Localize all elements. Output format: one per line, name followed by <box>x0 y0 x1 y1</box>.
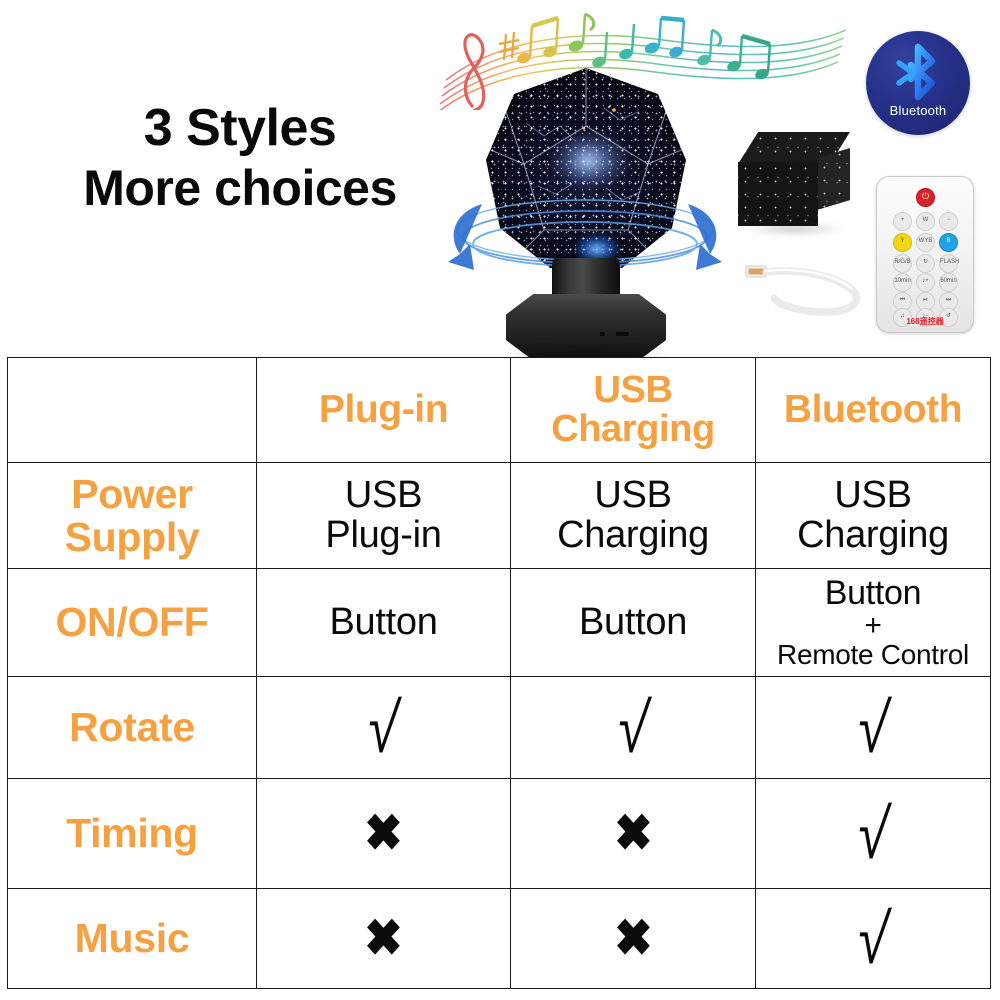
table-row: Music ✖ ✖ √ <box>8 889 991 989</box>
cell-timing-plug-in: ✖ <box>257 779 511 889</box>
table-header-row: Plug-in USB Charging Bluetooth <box>8 358 991 463</box>
headline-line-1: 3 Styles <box>40 98 440 159</box>
cell-line: Remote Control <box>758 641 988 670</box>
column-header-bluetooth: Bluetooth <box>756 358 991 463</box>
remote-button-w[interactable]: W <box>916 212 935 231</box>
cell-onoff-bluetooth: Button + Remote Control <box>756 569 991 677</box>
row-label-music: Music <box>8 889 257 989</box>
column-header-usb-charging-line-1: USB <box>513 371 753 410</box>
remote-button-plus[interactable]: + <box>893 212 912 231</box>
cell-power-bluetooth: USB Charging <box>756 463 991 569</box>
page-title: 3 Styles More choices <box>40 98 440 218</box>
row-label-power-supply-line-2: Supply <box>10 516 254 558</box>
remote-button-timer-10[interactable]: 10min <box>893 273 912 292</box>
remote-button-rotate[interactable]: ↻ <box>916 254 935 273</box>
table-row: Rotate √ √ √ <box>8 677 991 779</box>
cell-onoff-usb-charging: Button <box>511 569 756 677</box>
usb-cable <box>744 250 874 322</box>
cell-line: Charging <box>513 516 753 555</box>
cell-power-plug-in: USB Plug-in <box>257 463 511 569</box>
cell-rotate-usb-charging: √ <box>511 677 756 779</box>
row-label-on-off: ON/OFF <box>8 569 257 677</box>
cell-power-usb-charging: USB Charging <box>511 463 756 569</box>
column-header-usb-charging-line-2: Charging <box>513 410 753 449</box>
cell-onoff-plug-in: Button <box>257 569 511 677</box>
cross-icon: ✖ <box>614 808 653 859</box>
cross-icon: ✖ <box>364 913 403 964</box>
cell-line: USB <box>513 476 753 515</box>
headline-line-2: More choices <box>40 159 440 218</box>
bluetooth-badge: Bluetooth <box>866 31 970 135</box>
cell-music-plug-in: ✖ <box>257 889 511 989</box>
cell-line: + <box>758 611 988 641</box>
remote-model-label: 168遥控器 <box>877 316 973 327</box>
base-indicator <box>600 332 605 336</box>
remote-button-timer-60[interactable]: 60min <box>939 273 958 292</box>
remote-power-button[interactable]: ⏻ <box>916 188 935 207</box>
cell-timing-usb-charging: ✖ <box>511 779 756 889</box>
cell-timing-bluetooth: √ <box>756 779 991 889</box>
row-label-timing: Timing <box>8 779 257 889</box>
constellation-gift-box <box>738 132 850 232</box>
cell-line: Button <box>758 576 988 611</box>
cell-line: Plug-in <box>259 516 508 555</box>
table-row: ON/OFF Button Button Button + Remote Con… <box>8 569 991 677</box>
remote-button-wyb[interactable]: WYB <box>916 233 935 252</box>
star-projector-lamp <box>440 62 730 357</box>
check-icon: √ <box>364 693 402 763</box>
column-header-plug-in: Plug-in <box>257 358 511 463</box>
base-usb-port <box>616 332 629 336</box>
cross-icon: ✖ <box>614 913 653 964</box>
table-row: Timing ✖ ✖ √ <box>8 779 991 889</box>
remote-button-vol-up[interactable]: ♪+ <box>916 273 935 292</box>
bluetooth-badge-label: Bluetooth <box>866 103 970 118</box>
cell-line: USB <box>758 476 988 515</box>
check-icon: √ <box>854 799 892 869</box>
row-label-power-supply-line-1: Power <box>10 473 254 515</box>
hero-banner: 3 Styles More choices <box>0 0 1000 357</box>
row-label-power-supply: Power Supply <box>8 463 257 569</box>
check-icon: √ <box>614 693 652 763</box>
remote-button-minus[interactable]: − <box>939 212 958 231</box>
table-row: Power Supply USB Plug-in USB Charging US… <box>8 463 991 569</box>
remote-control: ⏻ + W − Y WYB B R/G/B ↻ FLASH 10min ♪+ 6… <box>876 176 974 333</box>
column-header-usb-charging: USB Charging <box>511 358 756 463</box>
cell-rotate-bluetooth: √ <box>756 677 991 779</box>
row-label-rotate: Rotate <box>8 677 257 779</box>
remote-button-flash[interactable]: FLASH <box>939 254 958 273</box>
gift-box-side <box>817 148 850 210</box>
remote-button-b[interactable]: B <box>939 233 958 252</box>
cell-rotate-plug-in: √ <box>257 677 511 779</box>
bluetooth-icon <box>891 43 945 101</box>
cell-line: Charging <box>758 516 988 555</box>
check-icon: √ <box>854 693 892 763</box>
cell-line: USB <box>259 476 508 515</box>
cross-icon: ✖ <box>364 808 403 859</box>
gift-box-shadow <box>742 222 846 236</box>
table-corner-cell <box>8 358 257 463</box>
remote-button-y[interactable]: Y <box>893 233 912 252</box>
feature-comparison-table: Plug-in USB Charging Bluetooth Power Sup… <box>7 357 991 989</box>
check-icon: √ <box>854 904 892 974</box>
cell-music-usb-charging: ✖ <box>511 889 756 989</box>
remote-button-rgb[interactable]: R/G/B <box>893 254 912 273</box>
cell-music-bluetooth: √ <box>756 889 991 989</box>
gift-box-front <box>738 162 818 226</box>
